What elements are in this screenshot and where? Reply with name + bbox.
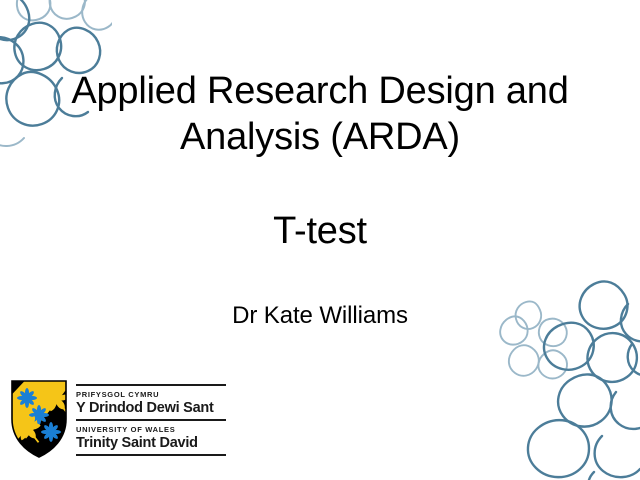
author-block: Dr Kate Williams [0,301,640,331]
wordmark-rule-bottom [76,454,226,456]
wordmark-english-large: Trinity Saint David [76,435,226,452]
university-crest-icon [10,379,68,459]
wordmark-english: UNIVERSITY OF WALES Trinity Saint David [76,421,226,454]
presentation-slide: Applied Research Design and Analysis (AR… [0,0,640,480]
subtitle-block: T-test [0,208,640,254]
wordmark-english-small: UNIVERSITY OF WALES [76,424,226,435]
logo-wordmark: PRIFYSGOL CYMRU Y Drindod Dewi Sant UNIV… [76,382,226,456]
wordmark-welsh-small: PRIFYSGOL CYMRU [76,389,226,400]
page-title: Applied Research Design and Analysis (AR… [0,68,640,160]
wordmark-welsh-large: Y Drindod Dewi Sant [76,400,226,417]
wordmark-welsh: PRIFYSGOL CYMRU Y Drindod Dewi Sant [76,386,226,419]
university-logo: PRIFYSGOL CYMRU Y Drindod Dewi Sant UNIV… [10,376,226,462]
slide-subtitle: T-test [0,208,640,254]
author-name: Dr Kate Williams [0,301,640,331]
title-block: Applied Research Design and Analysis (AR… [0,68,640,160]
